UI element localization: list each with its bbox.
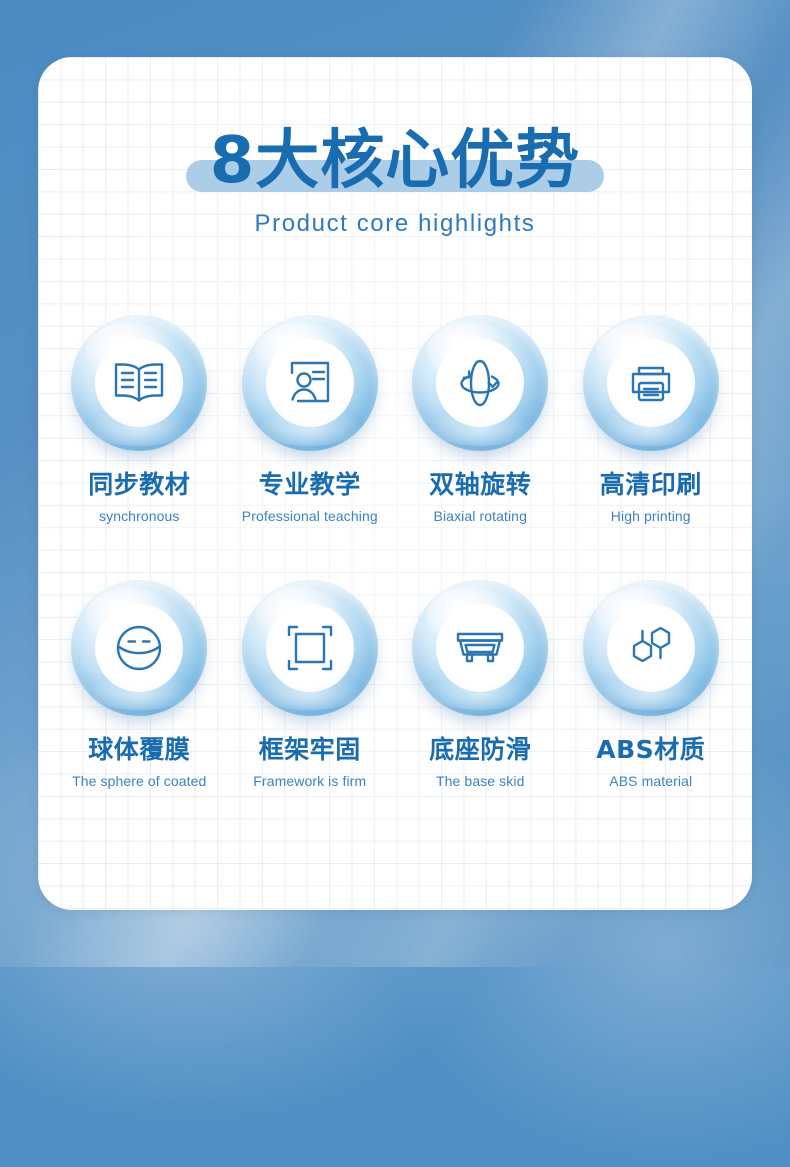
feature-title-cn: 高清印刷 xyxy=(566,471,737,500)
square-frame-brackets-icon xyxy=(266,604,354,692)
feature-title-cn: 专业教学 xyxy=(225,471,396,500)
feature-grid: 同步教材 synchronous xyxy=(54,315,736,789)
feature-title-cn: 同步教材 xyxy=(54,471,225,500)
feature-orb[interactable] xyxy=(583,315,719,451)
title-wrap: 8大核心优势 xyxy=(186,129,605,194)
grid-card: 8大核心优势 Product core highlights xyxy=(38,57,752,910)
molecule-hexagon-icon xyxy=(607,604,695,692)
feature-title-cn: 双轴旋转 xyxy=(395,471,566,500)
feature-orb[interactable] xyxy=(412,315,548,451)
feature-title-en: Professional teaching xyxy=(225,508,396,524)
feature-orb[interactable] xyxy=(71,315,207,451)
anti-skid-base-icon xyxy=(436,604,524,692)
feature-item-abs-material[interactable]: ABS材质 ABS material xyxy=(566,580,737,789)
feature-title-cn: ABS材质 xyxy=(566,736,737,765)
page-background: 8大核心优势 Product core highlights xyxy=(0,0,790,967)
biaxial-rotation-icon xyxy=(436,339,524,427)
open-book-icon xyxy=(95,339,183,427)
feature-title-cn: 底座防滑 xyxy=(395,736,566,765)
feature-title-en: synchronous xyxy=(54,508,225,524)
page-title: 8大核心优势 xyxy=(210,129,581,194)
feature-title-cn: 框架牢固 xyxy=(225,736,396,765)
feature-item-professional-teaching[interactable]: 专业教学 Professional teaching xyxy=(225,315,396,524)
feature-title-en: The sphere of coated xyxy=(54,773,225,789)
feature-item-high-printing[interactable]: 高清印刷 High printing xyxy=(566,315,737,524)
feature-item-biaxial-rotating[interactable]: 双轴旋转 Biaxial rotating xyxy=(395,315,566,524)
printer-icon xyxy=(607,339,695,427)
feature-item-synchronous[interactable]: 同步教材 synchronous xyxy=(54,315,225,524)
feature-item-framework-firm[interactable]: 框架牢固 Framework is firm xyxy=(225,580,396,789)
feature-title-en: High printing xyxy=(566,508,737,524)
feature-orb[interactable] xyxy=(242,315,378,451)
feature-title-en: The base skid xyxy=(395,773,566,789)
feature-title-cn: 球体覆膜 xyxy=(54,736,225,765)
coated-sphere-icon xyxy=(95,604,183,692)
feature-orb[interactable] xyxy=(412,580,548,716)
feature-item-base-skid[interactable]: 底座防滑 The base skid xyxy=(395,580,566,789)
page-subtitle: Product core highlights xyxy=(38,210,752,238)
certificate-person-icon xyxy=(266,339,354,427)
feature-title-en: Framework is firm xyxy=(225,773,396,789)
feature-item-coated-sphere[interactable]: 球体覆膜 The sphere of coated xyxy=(54,580,225,789)
feature-orb[interactable] xyxy=(242,580,378,716)
feature-orb[interactable] xyxy=(583,580,719,716)
header-block: 8大核心优势 Product core highlights xyxy=(38,129,752,238)
feature-title-en: ABS material xyxy=(566,773,737,789)
feature-title-en: Biaxial rotating xyxy=(395,508,566,524)
feature-orb[interactable] xyxy=(71,580,207,716)
